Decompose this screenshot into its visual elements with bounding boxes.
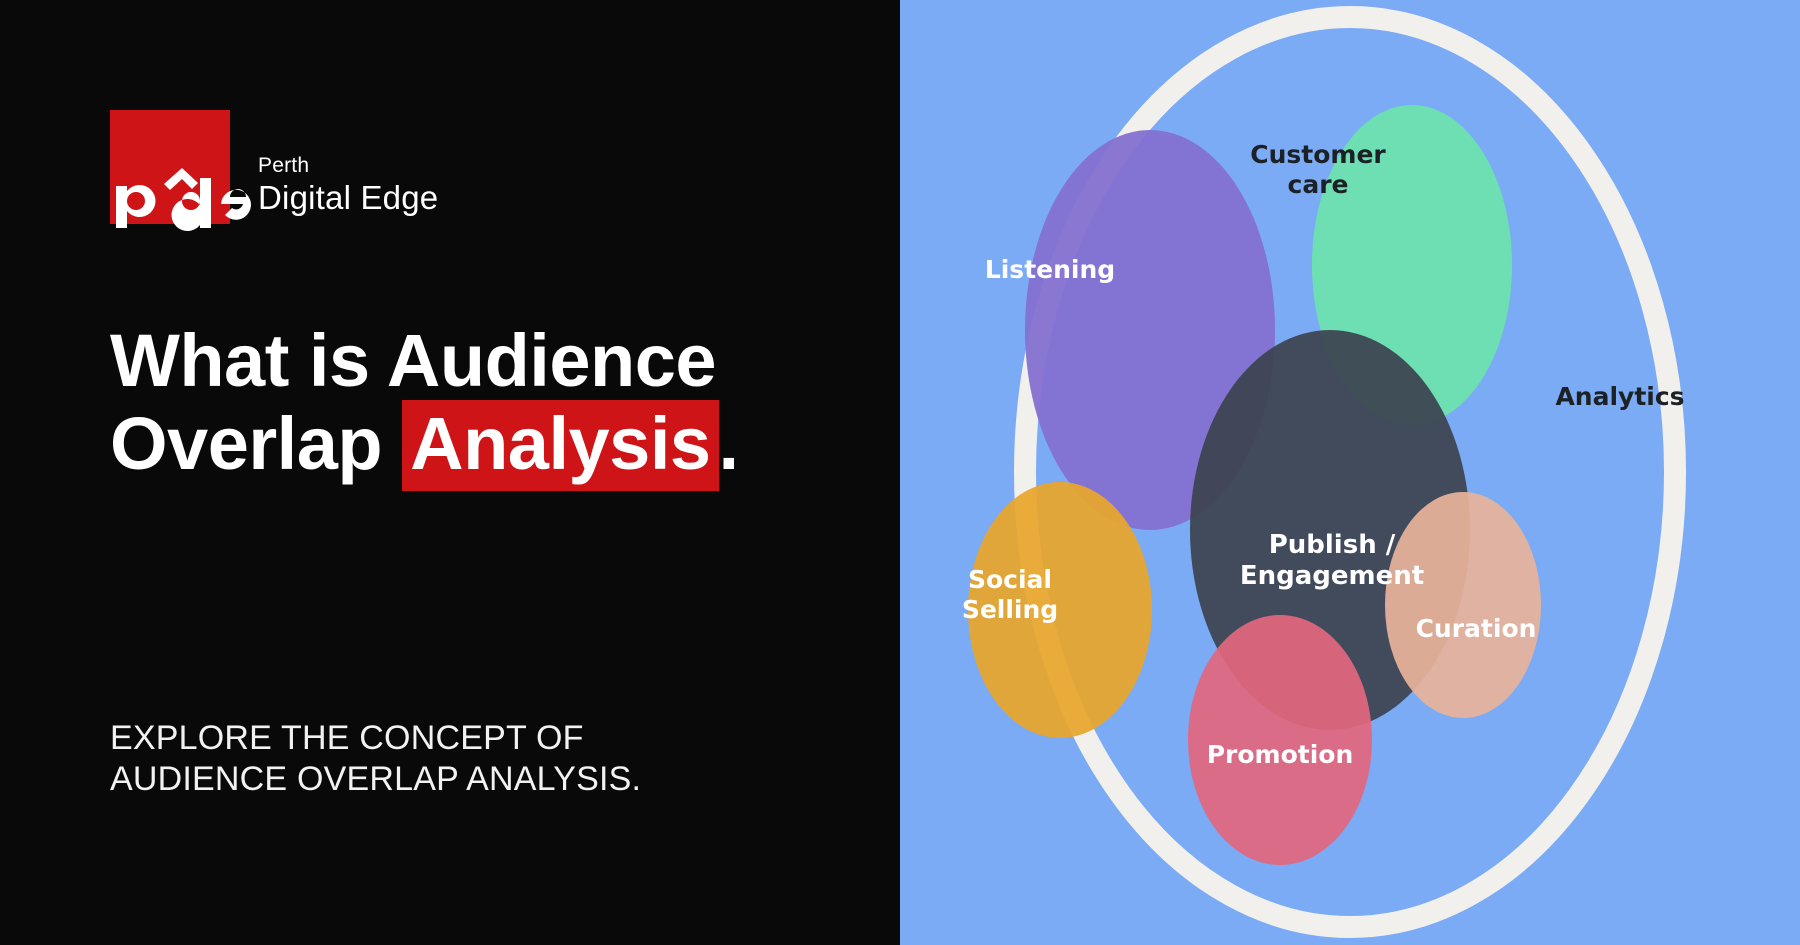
page-subtitle: EXPLORE THE CONCEPT OF AUDIENCE OVERLAP …: [110, 718, 810, 801]
left-content-panel: Perth Digital Edge What is Audience Over…: [0, 0, 900, 945]
logo-mark-square: [110, 110, 230, 224]
brand-wordmark: Perth Digital Edge: [258, 154, 438, 224]
brand-line-perth: Perth: [258, 154, 438, 177]
audience-overlap-venn-diagram: Listening Customer care Publish / Engage…: [900, 0, 1800, 945]
subtitle-line-2: AUDIENCE OVERLAP ANALYSIS.: [110, 759, 810, 800]
diagram-panel: Listening Customer care Publish / Engage…: [900, 0, 1800, 945]
bubble-social-selling: [968, 482, 1152, 738]
headline-prefix: Overlap: [110, 402, 402, 485]
slide-canvas: Perth Digital Edge What is Audience Over…: [0, 0, 1800, 945]
pde-wordmark-icon: [108, 164, 268, 228]
headline-line-1: What is Audience: [110, 320, 830, 403]
headline-highlight: Analysis: [402, 400, 718, 491]
subtitle-line-1: EXPLORE THE CONCEPT OF: [110, 718, 810, 759]
bubble-promotion: [1188, 615, 1372, 865]
page-title: What is Audience Overlap Analysis.: [110, 320, 830, 486]
brand-line-digital-edge: Digital Edge: [258, 177, 438, 218]
headline-period: .: [719, 402, 739, 485]
bubble-curation: [1385, 492, 1541, 718]
brand-logo[interactable]: Perth Digital Edge: [110, 110, 438, 224]
headline-line-2: Overlap Analysis.: [110, 403, 830, 486]
